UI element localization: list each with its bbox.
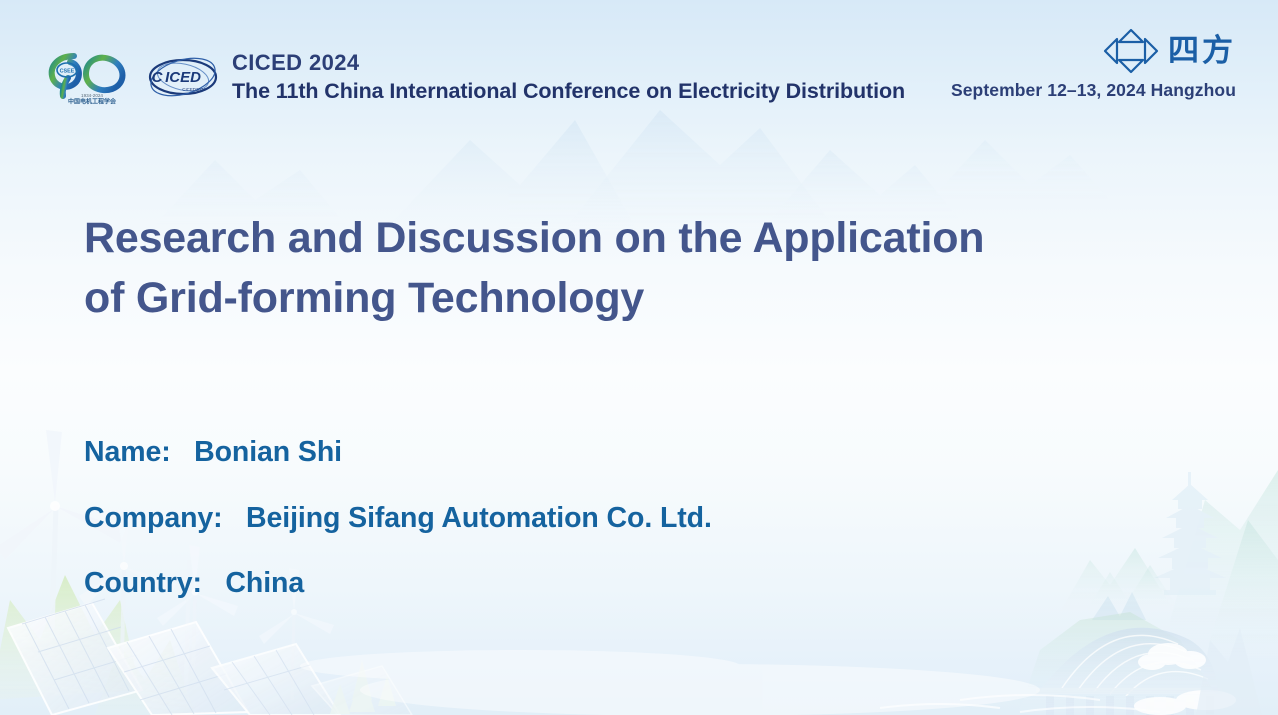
svg-text:C: C — [152, 69, 164, 86]
presenter-country-label: Country: — [84, 567, 202, 599]
presenter-company-value: Beijing Sifang Automation Co. Ltd. — [246, 502, 712, 534]
slide-title: Research and Discussion on the Applicati… — [84, 208, 1084, 328]
csee-90-anniversary-logo: CSEE 1934-2024 中国电机工程学会 — [46, 48, 138, 106]
conference-subtitle: The 11th China International Conference … — [232, 78, 905, 104]
conference-branding: CSEE 1934-2024 中国电机工程学会 ICED C CICED2024… — [46, 48, 905, 106]
presenter-name-label: Name: — [84, 436, 171, 468]
sifang-four-triangle-diamond-logo — [1103, 28, 1159, 74]
svg-text:CSEE: CSEE — [60, 69, 75, 75]
conference-name: CICED 2024 — [232, 50, 905, 77]
presenter-name-value: Bonian Shi — [194, 436, 342, 468]
svg-text:CICED2024: CICED2024 — [182, 87, 206, 92]
ciced-oval-globe-logo: ICED C CICED2024 — [144, 53, 222, 101]
slide-title-line-2: of Grid-forming Technology — [84, 268, 1084, 328]
svg-text:中国电机工程学会: 中国电机工程学会 — [68, 98, 117, 106]
svg-text:ICED: ICED — [165, 69, 201, 86]
slide-title-line-1: Research and Discussion on the Applicati… — [84, 208, 1084, 268]
presenter-country-row: Country: China — [84, 569, 712, 598]
sifang-name-cn: 四方 — [1168, 36, 1236, 67]
sifang-logo-row: 四方 — [951, 26, 1236, 76]
conference-date-location: September 12–13, 2024 Hangzhou — [951, 80, 1236, 101]
sponsor-branding: 四方 September 12–13, 2024 Hangzhou — [951, 26, 1236, 101]
presenter-name-row: Name: Bonian Shi — [84, 438, 712, 467]
mist-band — [300, 650, 1040, 715]
conference-title-block: CICED 2024 The 11th China International … — [232, 50, 905, 104]
presenter-info: Name: Bonian Shi Company: Beijing Sifang… — [84, 438, 712, 598]
slide-header: CSEE 1934-2024 中国电机工程学会 ICED C CICED2024… — [0, 0, 1278, 118]
presenter-company-label: Company: — [84, 502, 223, 534]
presentation-slide: CSEE 1934-2024 中国电机工程学会 ICED C CICED2024… — [0, 0, 1278, 715]
presenter-company-row: Company: Beijing Sifang Automation Co. L… — [84, 504, 712, 533]
svg-text:1934-2024: 1934-2024 — [81, 93, 103, 98]
presenter-country-value: China — [225, 567, 304, 599]
